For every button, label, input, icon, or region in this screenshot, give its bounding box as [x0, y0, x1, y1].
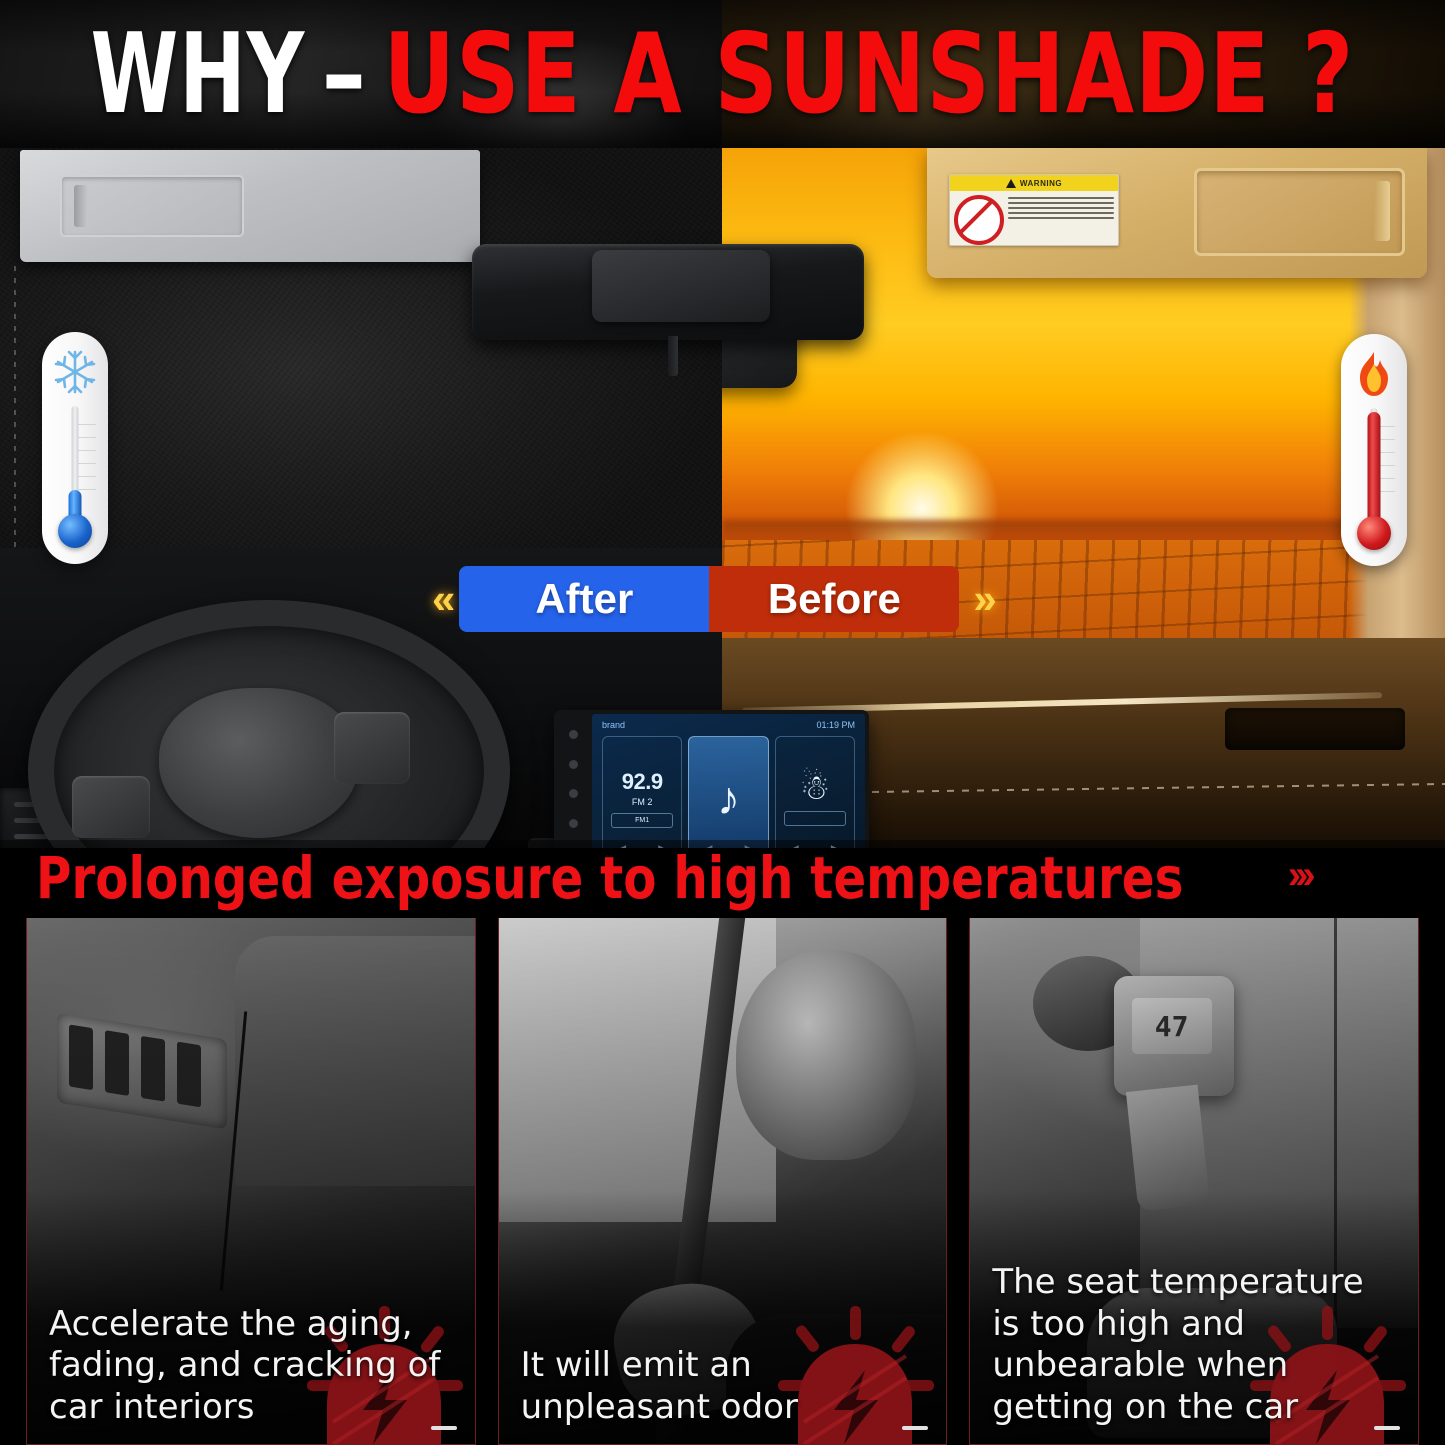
infotainment-tiles: 92.9 FM 2 FM1 ◀ ▶ ♪ ◀ ▶ [602, 736, 855, 848]
subheading-bar: Prolonged exposure to high temperatures … [0, 840, 1445, 918]
after-before-badge: « After Before » [432, 560, 1012, 638]
title-why: WHY [91, 10, 305, 139]
odor-card-text: It will emit an unpleasant odor [521, 1345, 925, 1428]
rearview-mirror [472, 244, 864, 340]
subheading-text: Prolonged exposure to high temperatures [36, 845, 1183, 912]
radio-frequency: 92.9 [622, 769, 663, 795]
seat-temperature-card: 47 The s [969, 915, 1419, 1445]
infotainment-status-bar: brand 01:19 PM [592, 717, 865, 733]
warning-label-body [950, 191, 1118, 246]
sunshade-infographic: WHY – USE A SUNSHADE ? [0, 0, 1445, 1445]
infotainment-clock: 01:19 PM [816, 720, 855, 730]
infotainment-brand: brand [602, 720, 625, 730]
phone-tile[interactable]: ☃ ◀ ▶ [775, 736, 855, 848]
radio-tile[interactable]: 92.9 FM 2 FM1 ◀ ▶ [602, 736, 682, 848]
seat-temperature-card-text: The seat temperature is too high and unb… [992, 1262, 1396, 1428]
sun-visor-tan: WARNING [927, 148, 1427, 278]
infotainment-display[interactable]: brand 01:19 PM 92.9 FM 2 FM1 ◀ ▶ ♪ [592, 714, 865, 848]
warning-label-text: WARNING [1020, 179, 1062, 188]
title-dash: – [305, 10, 383, 139]
card-underline-mark [1374, 1426, 1400, 1430]
music-note-icon: ♪ [717, 775, 740, 821]
chevron-right-icon: » [959, 575, 986, 623]
aging-card-text: Accelerate the aging, fading, and cracki… [49, 1304, 453, 1428]
visor-mirror-cover [60, 175, 244, 237]
thermometer-bulb-hot [1357, 516, 1391, 550]
radio-band: FM 2 [632, 797, 653, 807]
media-tile[interactable]: ♪ ◀ ▶ [688, 736, 768, 848]
visor-mirror-cover-right [1194, 168, 1405, 256]
phone-chip[interactable] [784, 811, 846, 826]
warning-label-heading: WARNING [950, 175, 1118, 191]
thermometer-cold [42, 332, 108, 564]
title-use-a-sunshade: USE A SUNSHADE ? [383, 10, 1354, 139]
flame-icon [1350, 348, 1398, 404]
before-after-hero: WARNING [0, 148, 1445, 848]
card-underline-mark [902, 1426, 928, 1430]
sun-visor-gray [20, 150, 480, 262]
warning-label-lines [1008, 195, 1114, 245]
aging-card: Accelerate the aging, fading, and cracki… [26, 915, 476, 1445]
thermometer-hot [1341, 334, 1407, 566]
visor-tab-right [1374, 181, 1390, 241]
after-label: After [459, 566, 709, 632]
steering-buttons-right [334, 712, 410, 784]
chevron-right-triple-icon: ››› [1288, 853, 1310, 898]
infotainment-side-buttons[interactable] [560, 720, 586, 848]
warning-triangle-icon [1006, 179, 1016, 188]
card-underline-mark [431, 1426, 457, 1430]
consequence-cards: Accelerate the aging, fading, and cracki… [0, 915, 1445, 1445]
header-banner: WHY – USE A SUNSHADE ? [0, 0, 1445, 148]
steering-buttons-left [72, 776, 150, 838]
visor-warning-label: WARNING [949, 174, 1119, 246]
mirror-dashcam [592, 250, 770, 322]
radio-preset-chip[interactable]: FM1 [611, 813, 673, 828]
visor-tab [74, 185, 88, 227]
thermometer-bulb-cold [58, 514, 92, 548]
infotainment-screen[interactable]: brand 01:19 PM 92.9 FM 2 FM1 ◀ ▶ ♪ [554, 710, 869, 848]
no-child-seat-icon [954, 195, 1004, 245]
page-title: WHY – USE A SUNSHADE ? [58, 0, 1387, 148]
mirror-stem [668, 336, 678, 376]
snowflake-icon [51, 346, 99, 402]
before-label: Before [709, 566, 959, 632]
person-icon: ☃ [800, 771, 830, 805]
chevron-left-icon: « [432, 575, 459, 623]
air-vent-right [1225, 708, 1405, 750]
steering-wheel-hub [159, 688, 359, 838]
sunshade-stitching [14, 266, 16, 566]
odor-card: It will emit an unpleasant odor [498, 915, 948, 1445]
